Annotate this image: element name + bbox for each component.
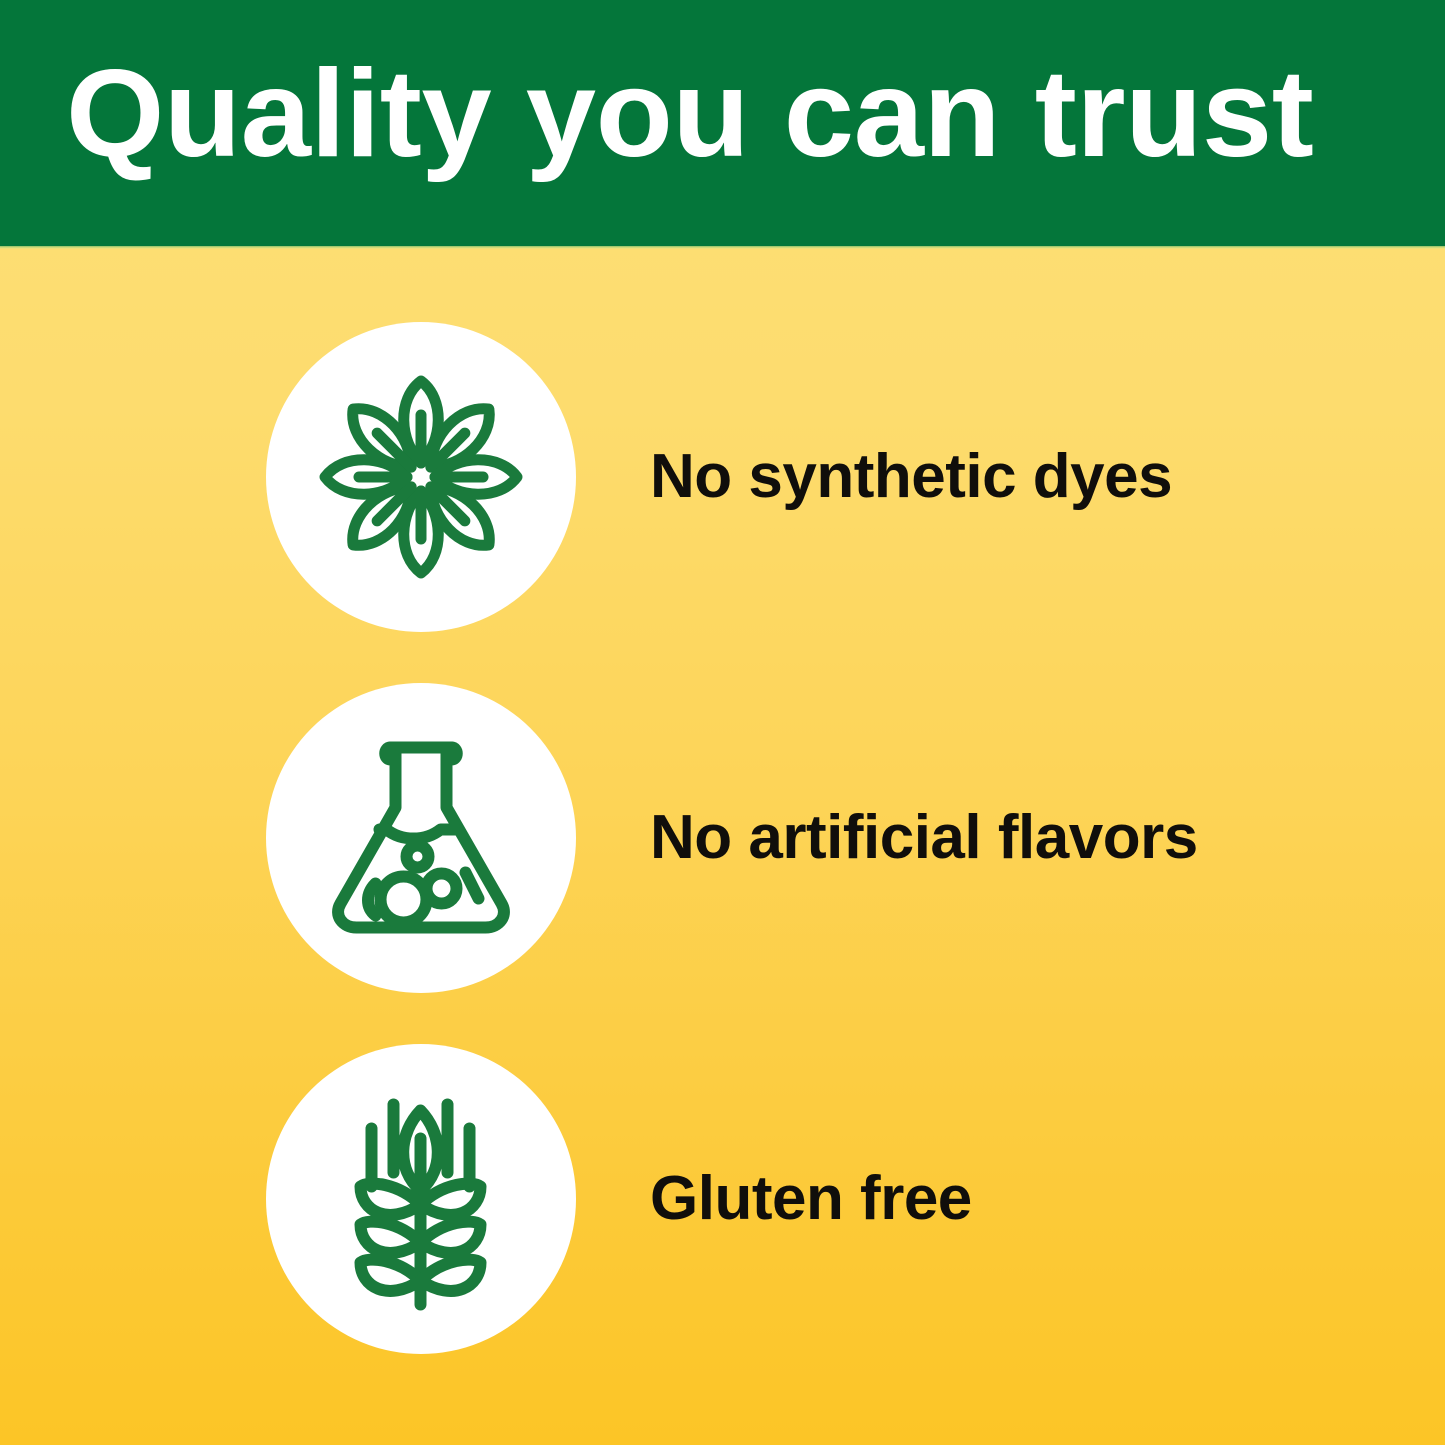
erlenmeyer-flask-icon [314, 726, 529, 951]
feature-row: No synthetic dyes [0, 322, 1445, 632]
header-divider [0, 246, 1445, 249]
feature-label: No artificial flavors [650, 683, 1198, 993]
icon-badge [266, 322, 576, 632]
feature-label: Gluten free [650, 1044, 972, 1354]
page-title: Quality you can trust [66, 52, 1423, 176]
icon-badge [266, 1044, 576, 1354]
feature-row: Gluten free [0, 1044, 1445, 1354]
header-band: Quality you can trust [0, 0, 1445, 248]
flower-petals-icon [296, 352, 546, 602]
promo-graphic: Quality you can trust [0, 0, 1445, 1445]
wheat-stalk-icon [314, 1077, 529, 1322]
feature-row: No artificial flavors [0, 683, 1445, 993]
feature-label: No synthetic dyes [650, 322, 1172, 632]
icon-badge [266, 683, 576, 993]
